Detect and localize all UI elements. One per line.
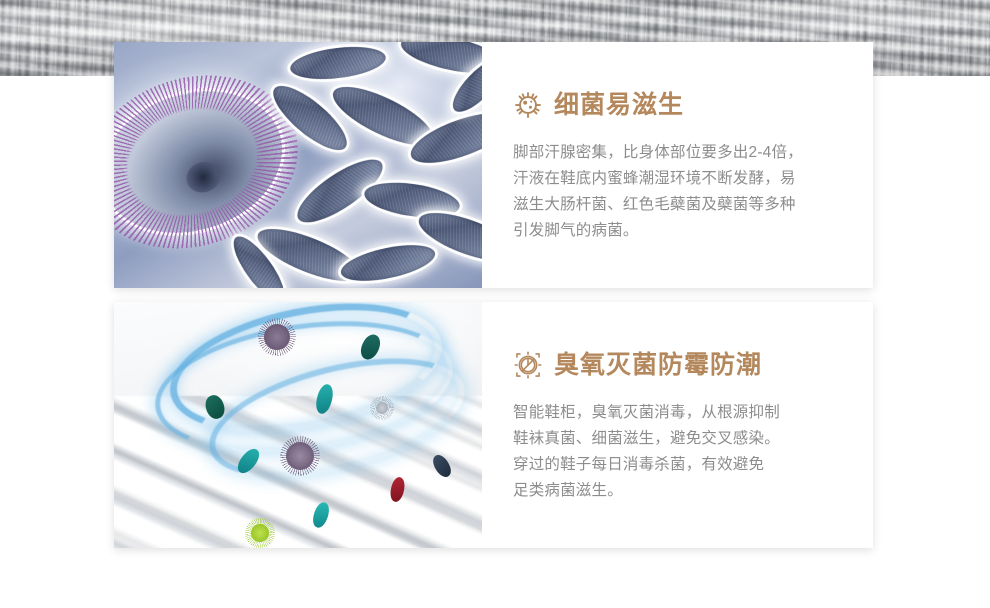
germ-particle xyxy=(376,402,388,414)
description-line: 鞋袜真菌、细菌滋生，避免交叉感染。 xyxy=(513,426,873,452)
germ-particle xyxy=(264,324,290,350)
product-feature-page: 细菌易滋生 脚部汗腺密集，比身体部位要多出2-4倍， 汗液在鞋底内蜜蜂潮湿环境不… xyxy=(0,0,990,608)
description-line: 穿过的鞋子每日消毒杀菌，有效避免 xyxy=(513,452,873,478)
bacteria-icon xyxy=(513,90,543,120)
feature-heading: 细菌易滋生 xyxy=(513,90,873,120)
description-line: 滋生大肠杆菌、红色毛蘗菌及蘗菌等多种 xyxy=(513,192,873,218)
ozone-sterilize-icon xyxy=(513,350,543,380)
feature-description: 脚部汗腺密集，比身体部位要多出2-4倍， 汗液在鞋底内蜜蜂潮湿环境不断发酵，易 … xyxy=(513,140,873,244)
germ-particle xyxy=(286,442,314,470)
germ-particle xyxy=(251,524,269,542)
feature-title: 细菌易滋生 xyxy=(554,93,684,118)
description-line: 汗液在鞋底内蜜蜂潮湿环境不断发酵，易 xyxy=(513,166,873,192)
description-line: 智能鞋柜，臭氧灭菌消毒，从根源抑制 xyxy=(513,400,873,426)
feature-heading: 臭氧灭菌防霉防潮 xyxy=(513,350,873,380)
description-line: 引发脚气的病菌。 xyxy=(513,218,873,244)
description-line: 足类病菌滋生。 xyxy=(513,478,873,504)
feature-title: 臭氧灭菌防霉防潮 xyxy=(554,353,762,378)
feature-card-ozone-sterilization: 臭氧灭菌防霉防潮 智能鞋柜，臭氧灭菌消毒，从根源抑制 鞋袜真菌、细菌滋生，避免交… xyxy=(114,302,873,548)
fabric-ozone-swirl-image xyxy=(114,302,482,548)
feature-card-text-ozone-sterilization: 臭氧灭菌防霉防潮 智能鞋柜，臭氧灭菌消毒，从根源抑制 鞋袜真菌、细菌滋生，避免交… xyxy=(482,302,873,548)
feature-card-text-bacteria-growth: 细菌易滋生 脚部汗腺密集，比身体部位要多出2-4倍， 汗液在鞋底内蜜蜂潮湿环境不… xyxy=(482,42,873,288)
feature-card-bacteria-growth: 细菌易滋生 脚部汗腺密集，比身体部位要多出2-4倍， 汗液在鞋底内蜜蜂潮湿环境不… xyxy=(114,42,873,288)
feature-description: 智能鞋柜，臭氧灭菌消毒，从根源抑制 鞋袜真菌、细菌滋生，避免交叉感染。 穿过的鞋… xyxy=(513,400,873,504)
blue-bacteria-microscope-image xyxy=(114,42,482,288)
description-line: 脚部汗腺密集，比身体部位要多出2-4倍， xyxy=(513,140,873,166)
